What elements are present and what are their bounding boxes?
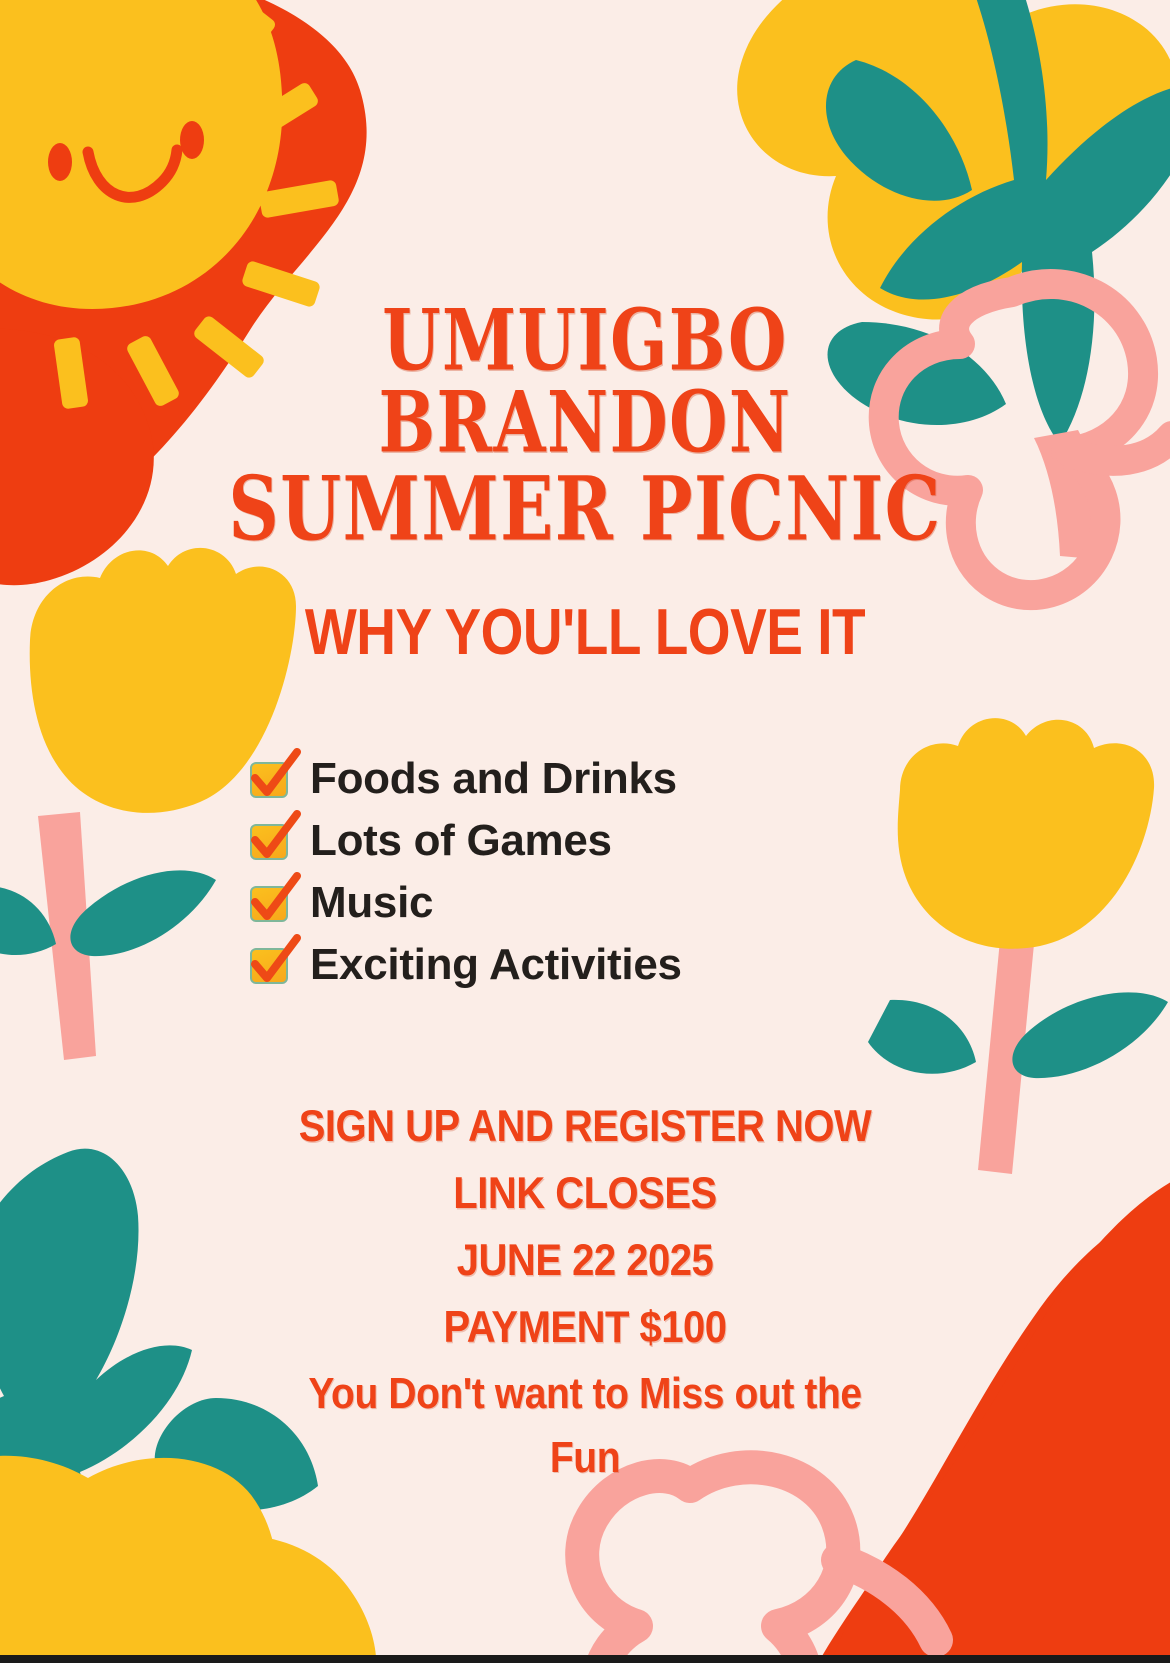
cta-deadline-date: JUNE 22 2025 [457,1236,713,1286]
cta-link-closes-line: LINK CLOSES [453,1169,716,1219]
summer-picnic-poster: UMUIGBO BRANDON SUMMER PICNIC WHY YOU'LL… [0,0,1170,1663]
cta-signup-line: SIGN UP AND REGISTER NOW [299,1102,872,1152]
cta-closing-line-1: You Don't want to Miss out the [308,1370,861,1419]
checklist-item: Lots of Games [248,816,1170,866]
checklist-item-label: Music [310,881,433,925]
checklist-item: Foods and Drinks [248,754,1170,804]
cta-closing-line-2: Fun [550,1434,620,1483]
title-line-2: BRANDON [18,382,1153,465]
checklist-item-label: Lots of Games [310,819,612,863]
checklist-item-label: Exciting Activities [310,943,682,987]
poster-subtitle: WHY YOU'LL LOVE IT [0,594,1170,670]
check-box-with-check-icon [248,882,290,924]
cta-payment-amount: PAYMENT $100 [443,1303,726,1353]
check-box-with-check-icon [248,944,290,986]
check-box-with-check-icon [248,758,290,800]
title-line-1: UMUIGBO [18,300,1153,383]
checklist-item: Exciting Activities [248,940,1170,990]
checklist-item: Music [248,878,1170,928]
poster-content: UMUIGBO BRANDON SUMMER PICNIC WHY YOU'LL… [0,0,1170,1663]
poster-title: UMUIGBO BRANDON SUMMER PICNIC [0,300,1170,550]
checklist-item-label: Foods and Drinks [310,757,677,801]
benefits-checklist: Foods and Drinks Lots of Games [0,754,1170,990]
check-box-with-check-icon [248,820,290,862]
call-to-action-block: SIGN UP AND REGISTER NOW LINK CLOSES JUN… [0,1102,1170,1478]
title-line-3: SUMMER PICNIC [18,465,1153,552]
